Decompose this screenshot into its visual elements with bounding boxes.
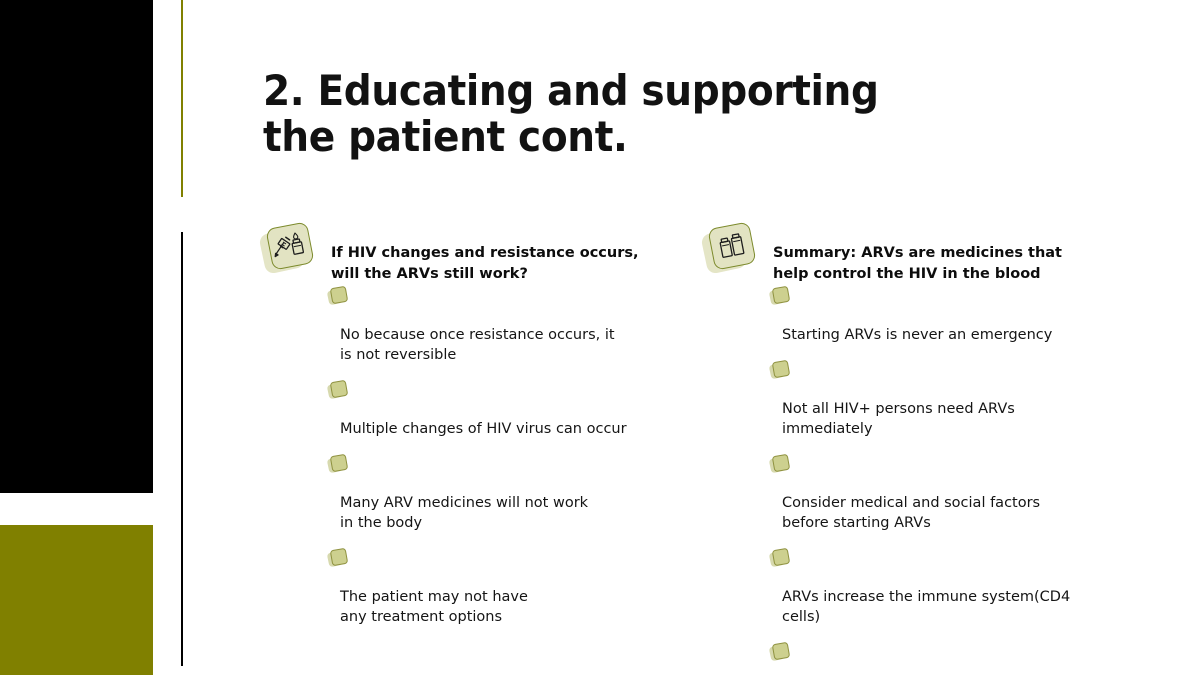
list-item-text: The patient may not have any treatment o… <box>340 589 528 625</box>
decorative-olive-block <box>0 525 153 675</box>
list-item: Not all HIV+ persons need ARVs immediate… <box>700 359 1120 439</box>
bullet-tile <box>772 454 791 473</box>
page-title: 2. Educating and supporting the patient … <box>263 68 970 160</box>
decorative-black-block <box>0 0 153 493</box>
slide: 2. Educating and supporting the patient … <box>0 0 1200 675</box>
column-heading-text: Summary: ARVs are medicines that help co… <box>773 222 1120 285</box>
medicine-bottles-icon <box>700 222 756 278</box>
list-item-text: ARVs increase the immune system(CD4 cell… <box>782 589 1070 625</box>
content-column-right: Summary: ARVs are medicines that help co… <box>700 222 1120 675</box>
list-item: Starting ARVs is never an emergency <box>700 285 1120 345</box>
bullet-square-icon <box>328 455 346 473</box>
list-item: Many ARV medicines will not work in the … <box>258 453 678 533</box>
bullet-square-icon <box>328 381 346 399</box>
list-item: The patient may not have any treatment o… <box>258 547 678 627</box>
list-item: Consider medical and social factors befo… <box>700 453 1120 533</box>
list-item: Resistance is when the HIV virus changes… <box>700 641 1120 675</box>
bullet-tile <box>772 548 791 567</box>
bullet-square-icon <box>770 455 788 473</box>
bullet-square-icon <box>328 549 346 567</box>
bullet-square-icon <box>770 643 788 661</box>
bullet-tile <box>772 642 791 661</box>
bullet-square-icon <box>770 549 788 567</box>
column-header-left: If HIV changes and resistance occurs, wi… <box>258 222 678 285</box>
list-item-text: Consider medical and social factors befo… <box>782 495 1040 531</box>
bullet-tile <box>330 286 349 305</box>
bullet-tile <box>772 360 791 379</box>
list-item-text: Not all HIV+ persons need ARVs immediate… <box>782 401 1015 437</box>
list-item-text: Starting ARVs is never an emergency <box>782 327 1052 343</box>
list-item-text: Many ARV medicines will not work in the … <box>340 495 588 531</box>
list-item-text: Multiple changes of HIV virus can occur <box>340 421 627 437</box>
bullet-list-left: No because once resistance occurs, it is… <box>258 285 678 627</box>
list-item: Multiple changes of HIV virus can occur <box>258 379 678 439</box>
vertical-rule-olive <box>181 0 183 197</box>
bullet-tile <box>772 286 791 305</box>
syringe-vial-icon <box>258 222 314 278</box>
list-item-text: No because once resistance occurs, it is… <box>340 327 615 363</box>
list-item: ARVs increase the immune system(CD4 cell… <box>700 547 1120 627</box>
bullet-square-icon <box>770 287 788 305</box>
bullet-square-icon <box>770 361 788 379</box>
list-item: No because once resistance occurs, it is… <box>258 285 678 365</box>
content-column-left: If HIV changes and resistance occurs, wi… <box>258 222 678 641</box>
bullet-tile <box>330 548 349 567</box>
column-heading-text: If HIV changes and resistance occurs, wi… <box>331 222 678 285</box>
bullet-tile <box>330 380 349 399</box>
bullet-list-right: Starting ARVs is never an emergency Not … <box>700 285 1120 675</box>
vertical-rule-black <box>181 232 183 666</box>
column-header-right: Summary: ARVs are medicines that help co… <box>700 222 1120 285</box>
bullet-square-icon <box>328 287 346 305</box>
bullet-tile <box>330 454 349 473</box>
